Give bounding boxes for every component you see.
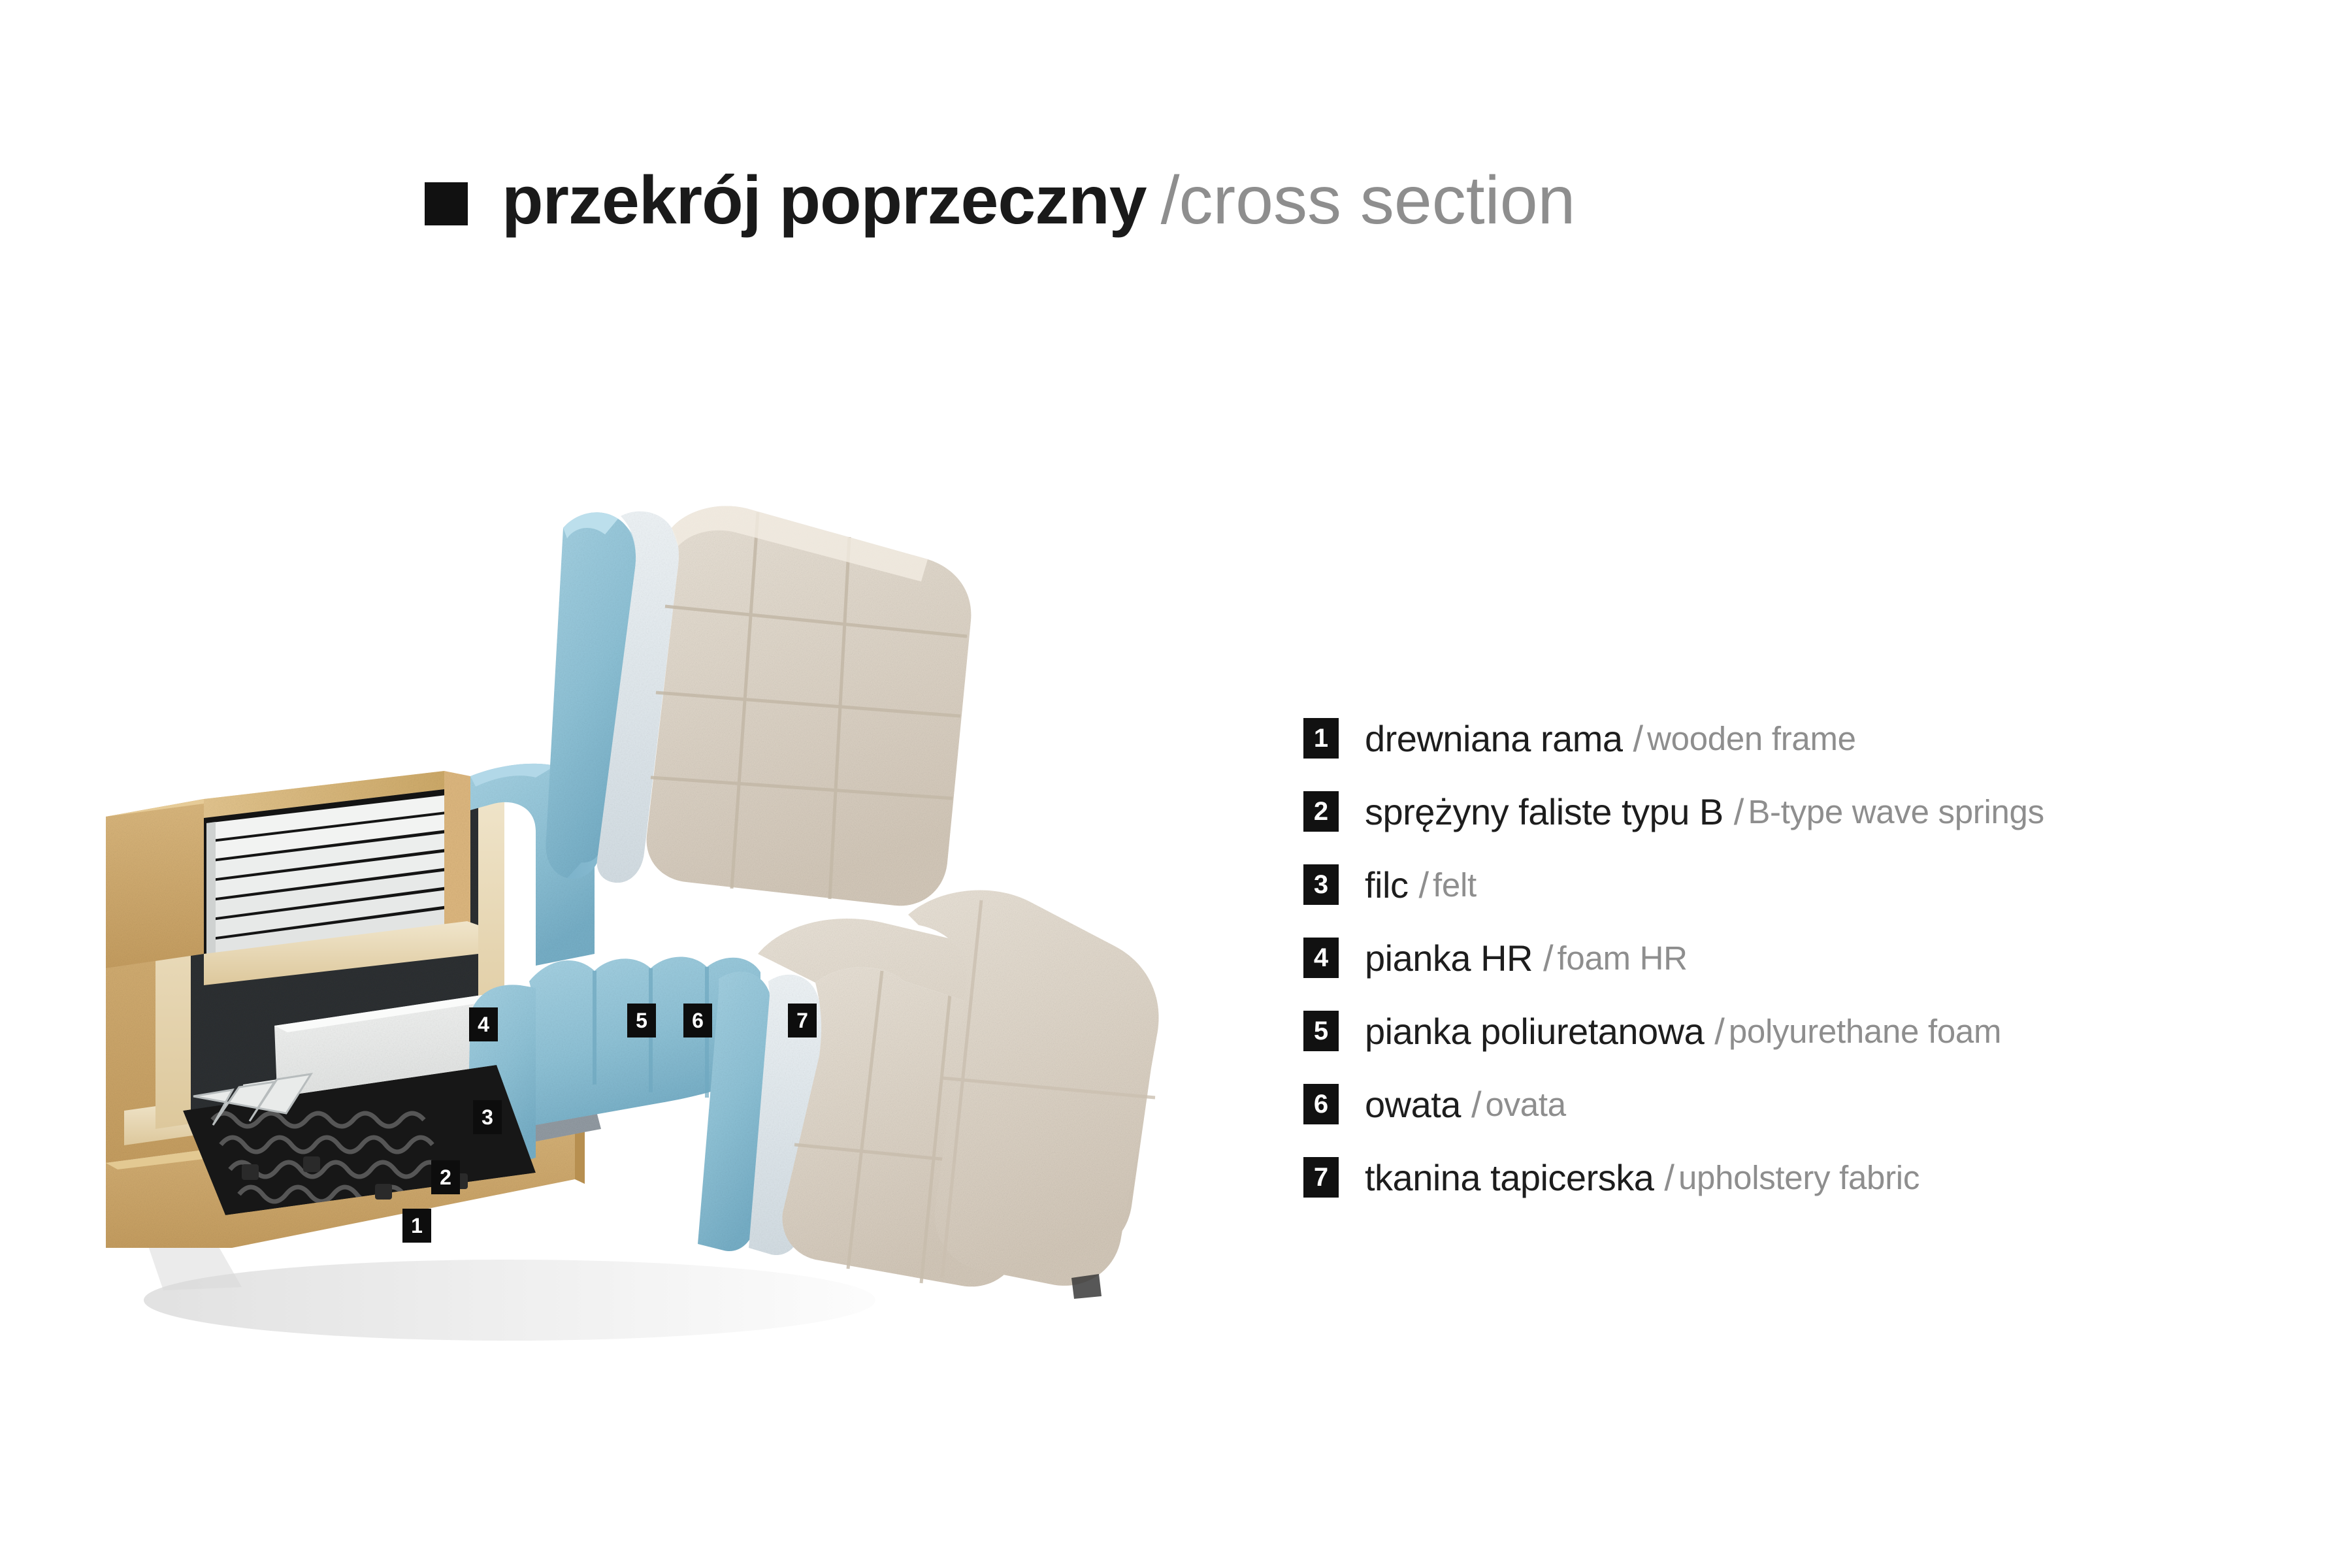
legend-badge-2: 2 [1303,791,1339,832]
legend-label-en-3: felt [1433,866,1477,904]
callout-badge-1: 1 [402,1209,431,1243]
page-title-en: cross section [1179,167,1575,235]
legend-label-pl-3: filc [1365,864,1408,906]
sofa-cross-section-illustration: 4 3 2 1 5 6 7 [78,497,1228,1398]
title-separator: / [1161,167,1179,235]
arm-frame-block [106,771,478,985]
legend-separator-7: / [1664,1156,1674,1199]
page-title-pl: przekrój poprzeczny [502,167,1147,235]
legend-item-2: 2 sprężyny faliste typu B / B-type wave … [1303,789,2044,834]
legend-label-pl-7: tkanina tapicerska [1365,1156,1654,1199]
legend-item-1: 1 drewniana rama / wooden frame [1303,715,2044,761]
callout-badge-7: 7 [788,1004,817,1037]
legend-separator-4: / [1543,937,1554,979]
legend-label-en-2: B-type wave springs [1748,792,2044,831]
backrest-assembly [546,506,971,906]
legend-label-pl-6: owata [1365,1083,1461,1126]
legend-label-pl-4: pianka HR [1365,937,1533,979]
legend-label-en-5: polyurethane foam [1729,1012,2001,1051]
legend-badge-4: 4 [1303,938,1339,978]
legend-item-7: 7 tkanina tapicerska / upholstery fabric [1303,1154,2044,1200]
legend-item-4: 4 pianka HR / foam HR [1303,935,2044,981]
callout-badge-2: 2 [431,1160,460,1194]
legend-label-en-7: upholstery fabric [1678,1158,1919,1197]
legend-separator-5: / [1714,1010,1725,1053]
legend-item-5: 5 pianka poliuretanowa / polyurethane fo… [1303,1008,2044,1054]
legend-label-en-1: wooden frame [1647,719,1856,758]
page-title: przekrój poprzeczny / cross section [502,167,1575,235]
legend-separator-3: / [1418,864,1429,906]
legend-separator-1: / [1633,717,1644,760]
callout-badge-4: 4 [469,1007,498,1041]
legend-badge-6: 6 [1303,1084,1339,1124]
legend-label-en-6: ovata [1486,1085,1566,1124]
legend-item-3: 3 filc / felt [1303,862,2044,907]
legend-badge-1: 1 [1303,718,1339,759]
legend-badge-3: 3 [1303,864,1339,905]
callout-badge-6: 6 [683,1004,712,1037]
square-bullet-icon [425,182,468,225]
materials-legend: 1 drewniana rama / wooden frame 2 spręży… [1303,715,2044,1228]
legend-badge-5: 5 [1303,1011,1339,1051]
callout-badge-5: 5 [627,1004,656,1037]
legend-separator-6: / [1471,1083,1482,1126]
legend-label-pl-5: pianka poliuretanowa [1365,1010,1704,1053]
legend-item-6: 6 owata / ovata [1303,1081,2044,1127]
page-header: przekrój poprzeczny / cross section [425,167,1575,235]
legend-separator-2: / [1734,791,1744,833]
callout-badge-3: 3 [473,1100,502,1134]
legend-label-en-4: foam HR [1558,939,1688,977]
legend-label-pl-1: drewniana rama [1365,717,1623,760]
legend-label-pl-2: sprężyny faliste typu B [1365,791,1723,833]
legend-badge-7: 7 [1303,1157,1339,1198]
